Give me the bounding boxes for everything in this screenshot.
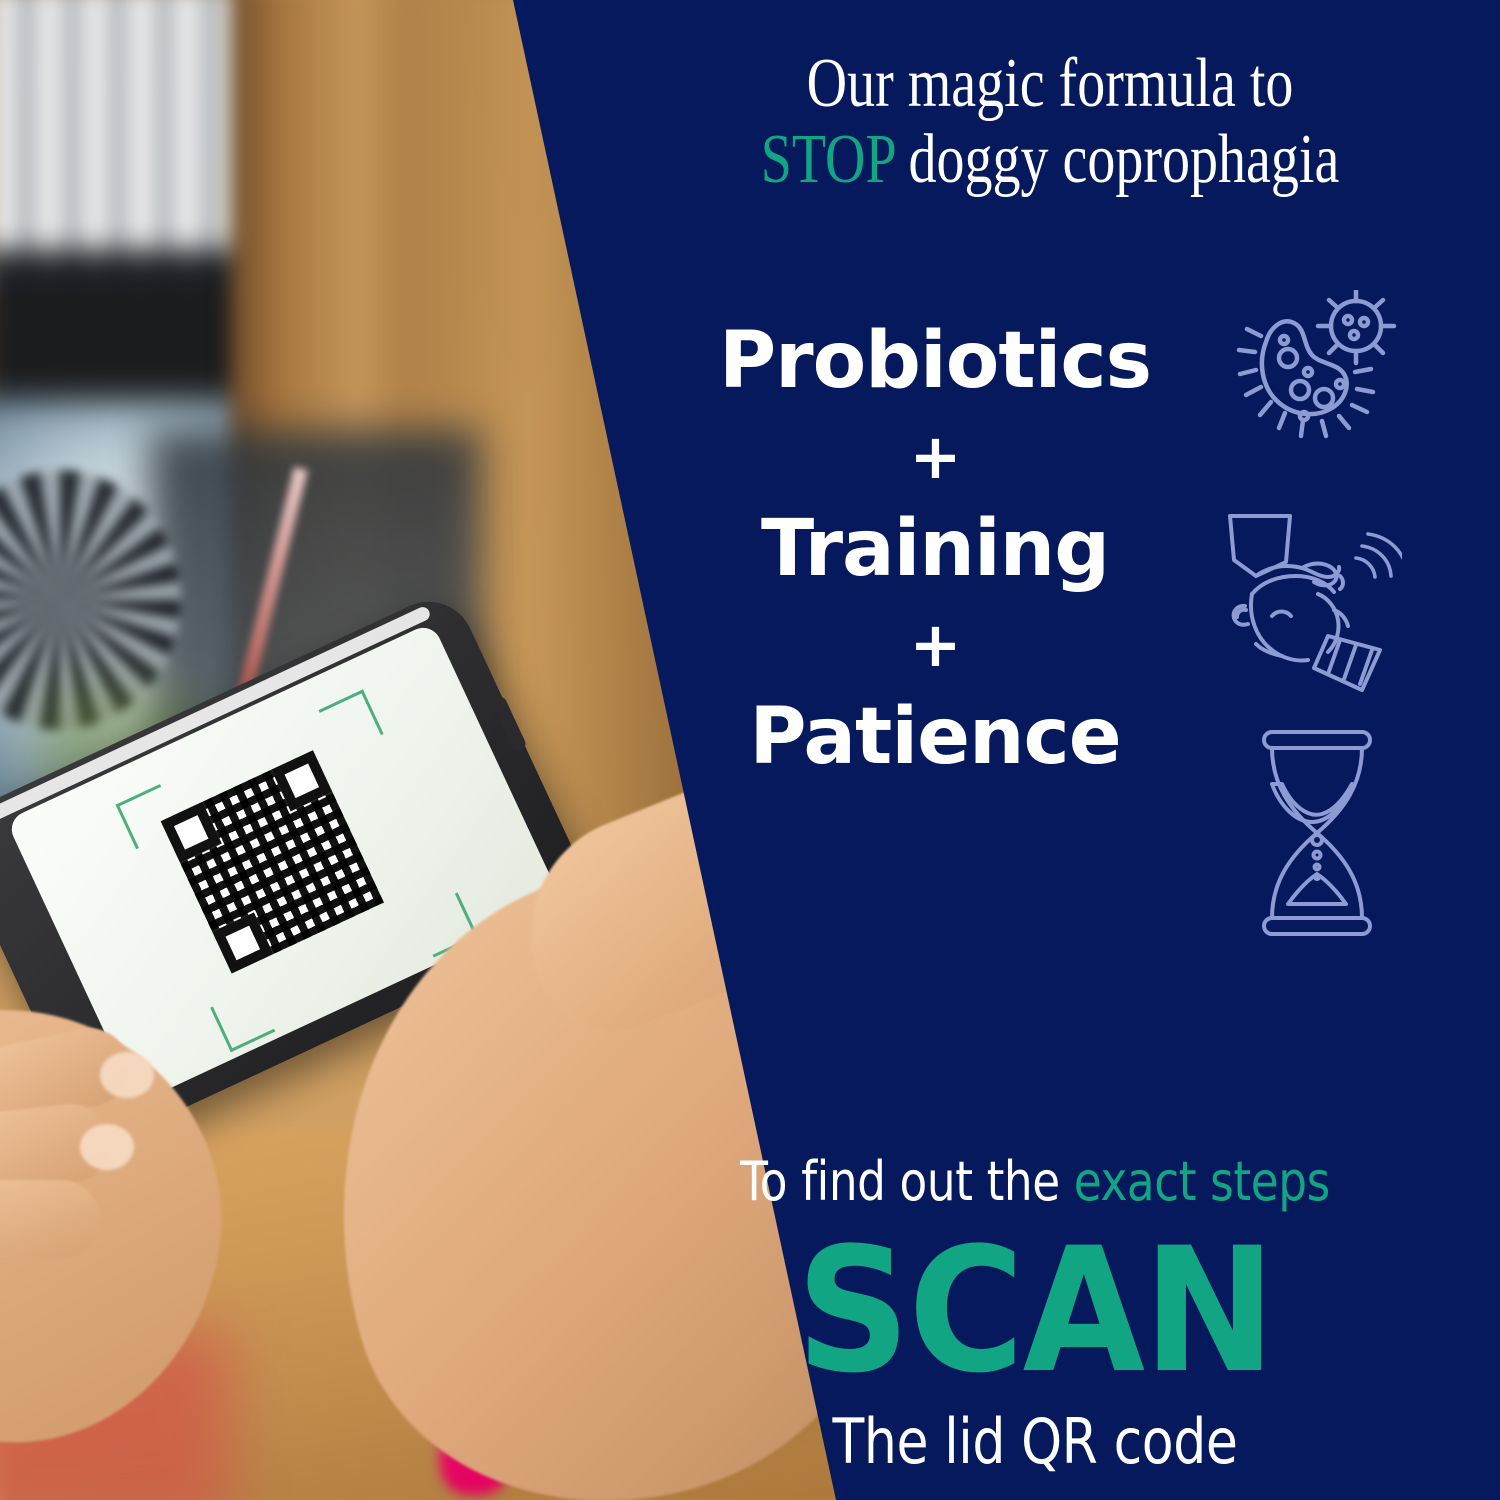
- call-to-action: To find out the exact steps SCAN The lid…: [570, 1150, 1500, 1478]
- hourglass-icon: [1252, 728, 1430, 958]
- poster-root: Our magic formula to STOP doggy copropha…: [0, 0, 1500, 1500]
- finger-3: [0, 1180, 100, 1258]
- fingernail-1: [100, 1052, 154, 1098]
- hand-petting-dog-icon: [1222, 504, 1430, 734]
- formula-operator-1: +: [590, 426, 1280, 488]
- cta-line-1-plain: To find out the: [740, 1150, 1074, 1213]
- fingernail-2: [80, 1124, 134, 1170]
- headline-stop-word: STOP: [761, 121, 895, 198]
- qr-code-icon: [161, 750, 384, 973]
- formula-item-training: Training: [590, 510, 1280, 588]
- cta-line-3: The lid QR code: [644, 1405, 1425, 1478]
- formula-list: Probiotics + Training + Patience: [590, 322, 1280, 776]
- cta-scan-word: SCAN: [607, 1225, 1463, 1397]
- poster-content: Our magic formula to STOP doggy copropha…: [560, 0, 1500, 1500]
- headline-line-1: Our magic formula to: [807, 45, 1294, 122]
- formula-item-probiotics: Probiotics: [590, 322, 1280, 400]
- headline: Our magic formula to STOP doggy copropha…: [690, 46, 1410, 197]
- headline-line-2-rest: doggy coprophagia: [895, 121, 1340, 198]
- headline-line-2: STOP doggy coprophagia: [690, 122, 1410, 198]
- formula-operator-2: +: [590, 614, 1280, 676]
- scan-bracket-bottom-left: [210, 987, 275, 1052]
- cta-line-1-highlight: exact steps: [1074, 1150, 1330, 1213]
- phone-side-button: [491, 695, 528, 753]
- bacteria-icon: [1228, 290, 1430, 520]
- cta-line-1: To find out the exact steps: [644, 1150, 1425, 1213]
- formula-item-patience: Patience: [590, 698, 1280, 776]
- scan-bracket-top-right: [319, 689, 384, 754]
- formula-icon-column: [1210, 290, 1430, 958]
- qr-finder-bottom-left: [212, 912, 273, 973]
